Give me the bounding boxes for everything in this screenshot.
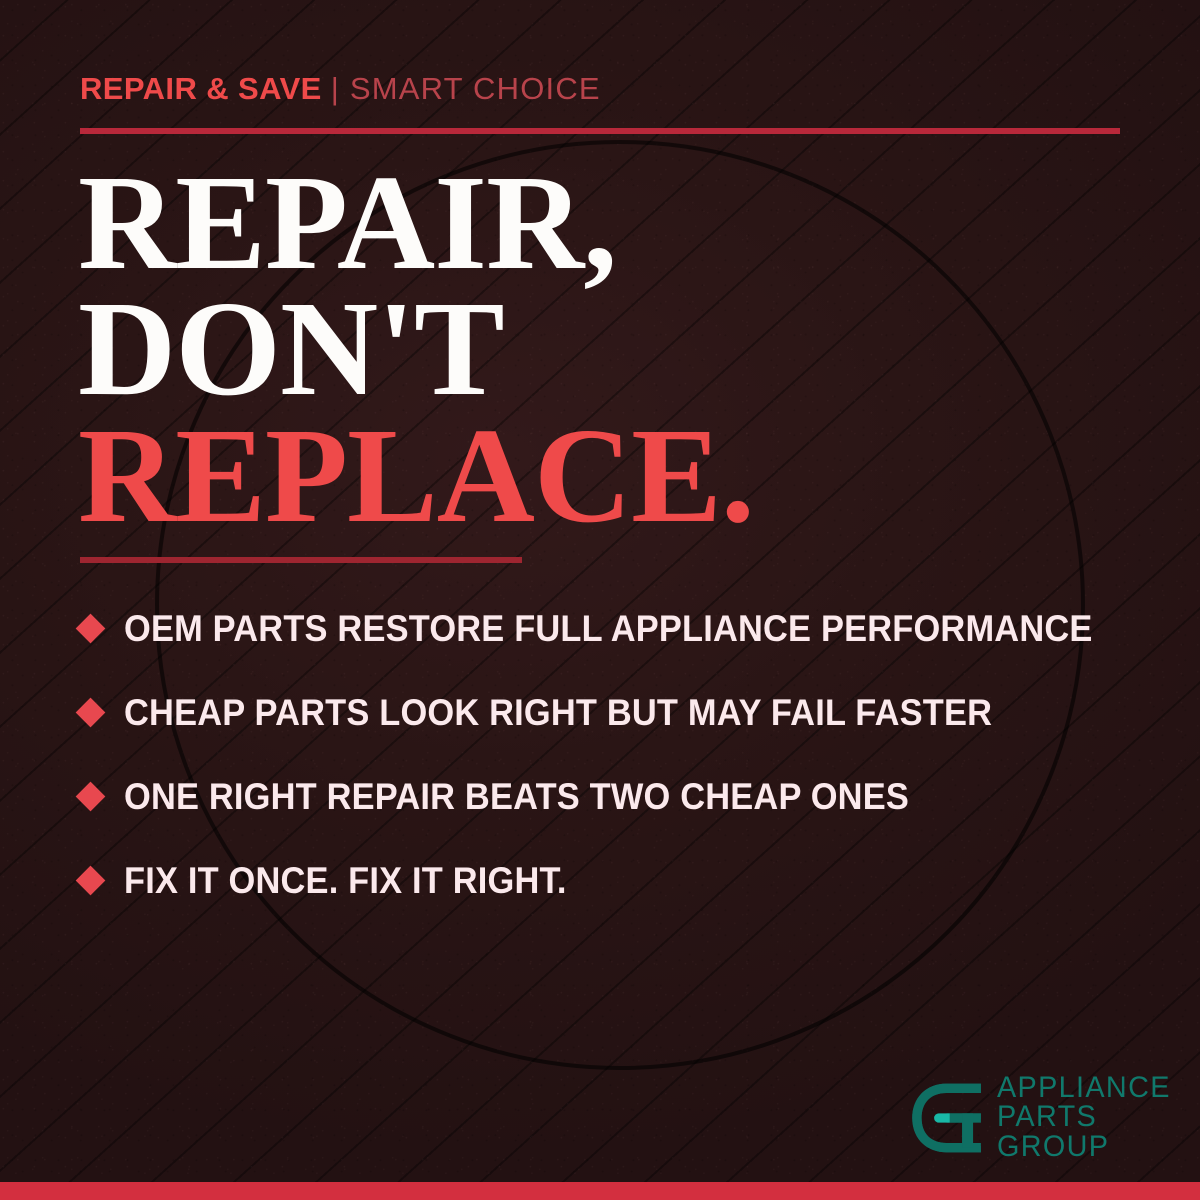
diamond-bullet-icon <box>76 781 106 811</box>
headline-line-3: REPLACE. <box>78 413 1128 539</box>
headline: REPAIR, DON'T REPLACE. <box>78 160 1128 539</box>
diamond-bullet-icon <box>76 865 106 895</box>
kicker-light-text: | SMART CHOICE <box>331 71 601 106</box>
list-item: FIX IT ONCE. FIX IT RIGHT. <box>78 838 1168 922</box>
diamond-bullet-icon <box>76 613 106 643</box>
list-item: ONE RIGHT REPAIR BEATS TWO CHEAP ONES <box>78 754 1168 838</box>
headline-line-1: REPAIR, <box>78 160 1128 286</box>
diamond-bullet-icon <box>76 697 106 727</box>
brand-logo-line-2: PARTS <box>997 1103 1171 1132</box>
brand-logo-line-1: APPLIANCE <box>997 1074 1171 1103</box>
list-item: CHEAP PARTS LOOK RIGHT BUT MAY FAIL FAST… <box>78 670 1168 754</box>
promo-poster: REPAIR & SAVE | SMART CHOICE REPAIR, DON… <box>0 0 1200 1200</box>
list-item-label: ONE RIGHT REPAIR BEATS TWO CHEAP ONES <box>124 778 909 815</box>
kicker-strong-text: REPAIR & SAVE <box>80 71 322 106</box>
brand-logo-wordmark: APPLIANCE PARTS GROUP <box>997 1074 1178 1162</box>
brand-logo: APPLIANCE PARTS GROUP <box>906 1074 1178 1162</box>
bottom-accent-bar <box>0 1182 1200 1200</box>
headline-line-2: DON'T <box>78 286 1128 412</box>
list-item-label: OEM PARTS RESTORE FULL APPLIANCE PERFORM… <box>124 610 1093 647</box>
benefit-list: OEM PARTS RESTORE FULL APPLIANCE PERFORM… <box>78 586 1168 922</box>
brand-logo-line-3: GROUP <box>997 1133 1171 1162</box>
list-item-label: FIX IT ONCE. FIX IT RIGHT. <box>124 862 567 899</box>
section-divider <box>80 557 522 563</box>
header-rule <box>80 128 1120 134</box>
appliance-parts-group-g-icon <box>906 1079 984 1157</box>
list-item-label: CHEAP PARTS LOOK RIGHT BUT MAY FAIL FAST… <box>124 694 992 731</box>
list-item: OEM PARTS RESTORE FULL APPLIANCE PERFORM… <box>78 586 1168 670</box>
kicker-eyebrow: REPAIR & SAVE | SMART CHOICE <box>80 73 601 104</box>
